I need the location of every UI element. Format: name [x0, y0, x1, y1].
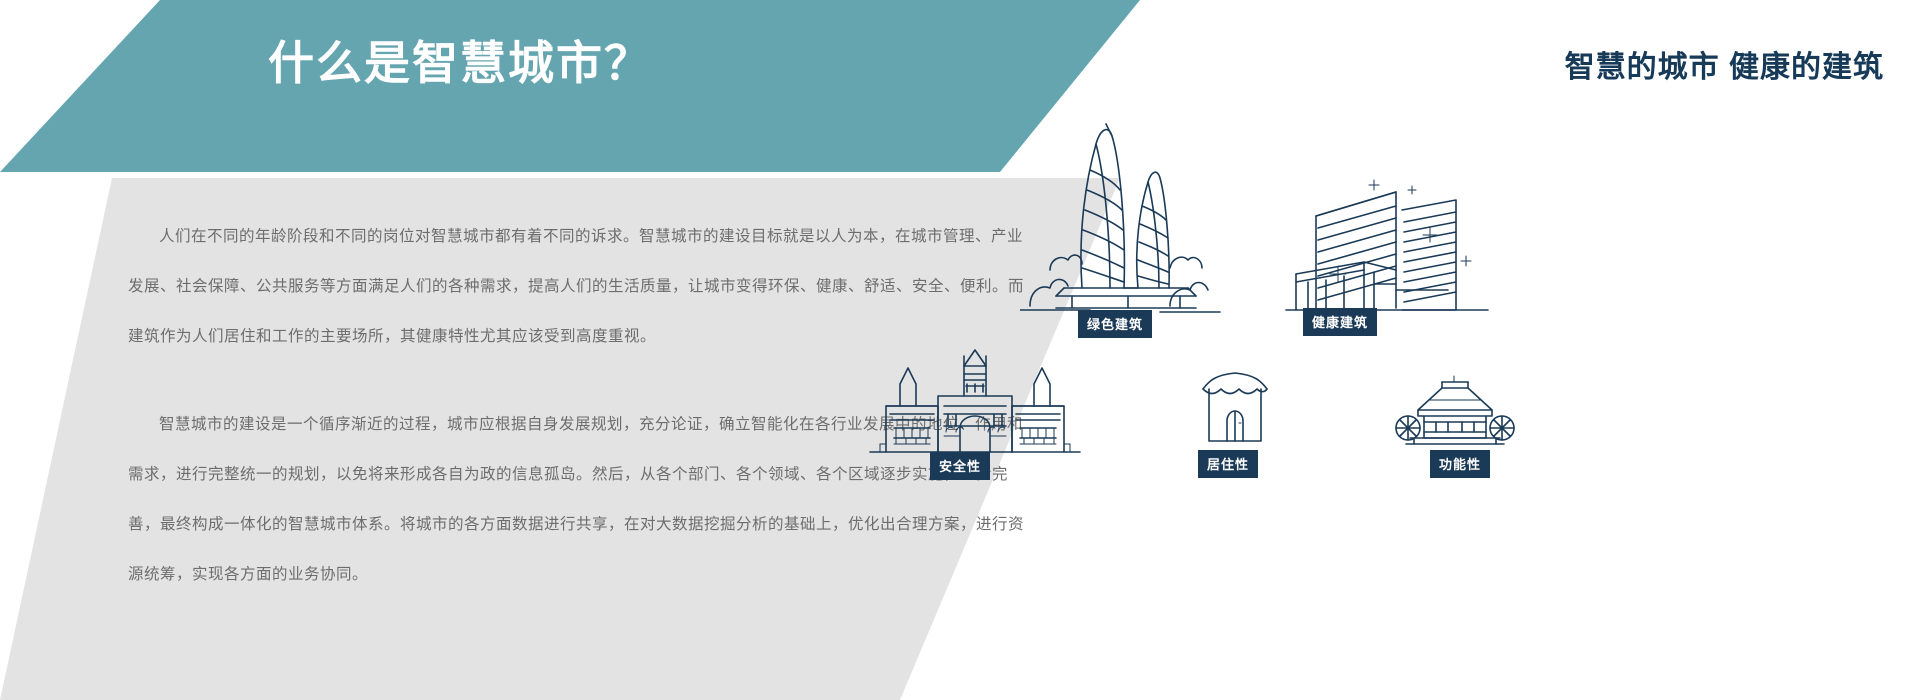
caption-green-building: 绿色建筑: [1078, 310, 1152, 338]
twin-towers-green-building-icon: [1020, 110, 1230, 315]
caption-functionality: 功能性: [1430, 450, 1490, 478]
caption-health-building: 健康建筑: [1303, 308, 1377, 336]
hospital-health-building-icon: [1278, 170, 1493, 330]
pavilion-hall-icon: [1390, 370, 1520, 452]
house-home-icon: [1195, 365, 1275, 447]
page-title: 什么是智慧城市？: [268, 40, 652, 86]
illustration-group: 绿色建筑: [1020, 100, 1920, 700]
caption-safety: 安全性: [930, 452, 990, 480]
caption-livability: 居住性: [1198, 450, 1258, 478]
slide-headline: 智慧的城市 健康的建筑: [1565, 42, 1884, 86]
paragraph-1: 人们在不同的年龄阶段和不同的岗位对智慧城市都有着不同的诉求。智慧城市的建设目标就…: [128, 212, 1028, 362]
castle-fortress-icon: [860, 348, 1090, 458]
slide-canvas: 什么是智慧城市？ 智慧的城市 健康的建筑 人们在不同的年龄阶段和不同的岗位对智慧…: [0, 0, 1920, 700]
